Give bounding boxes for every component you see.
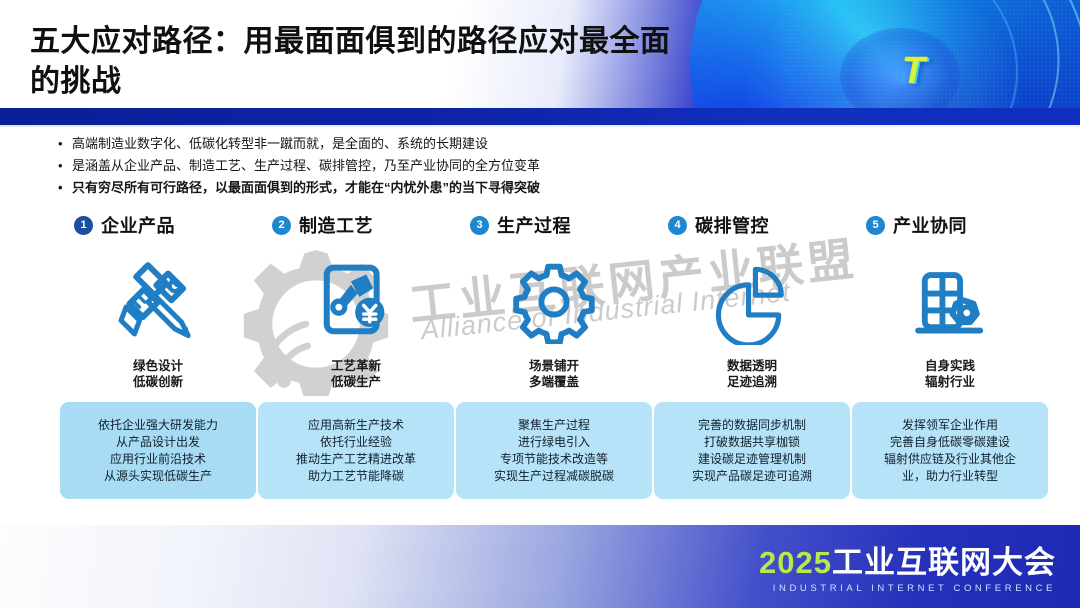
conference-year: 2025 [759, 545, 832, 580]
number-badge: 3 [470, 216, 489, 235]
detail-card[interactable]: 应用高新生产技术 依托行业经验 推动生产工艺精进改革 助力工艺节能降碳 [258, 402, 454, 499]
paths-row: 1 企业产品 绿色设计 [0, 210, 1080, 520]
path-column-4[interactable]: 4 碳排管控 数据透明 足迹追溯 完善的数据同步机制 打破数据共享枷锁 建设碳足… [654, 210, 850, 499]
slide-header: T 五大应对路径：用最面面俱到的路径应对最全面的挑战 [0, 0, 1080, 118]
conference-logo: 2025工业互联网大会 INDUSTRIAL INTERNET CONFEREN… [759, 547, 1056, 594]
sublabel-line-1: 工艺革新 [258, 358, 454, 374]
card-line: 实现生产过程减碳脱碳 [494, 468, 614, 485]
column-title: 企业产品 [101, 212, 175, 238]
column-header: 2 制造工艺 [258, 210, 454, 240]
column-title: 生产过程 [497, 212, 571, 238]
bullet-marker: • [58, 134, 72, 154]
column-title: 制造工艺 [299, 212, 373, 238]
sublabel-line-1: 数据透明 [654, 358, 850, 374]
column-header: 4 碳排管控 [654, 210, 850, 240]
sublabel-line-2: 足迹追溯 [654, 374, 850, 390]
sublabel-line-2: 低碳创新 [60, 374, 256, 390]
card-line: 应用高新生产技术 [296, 417, 416, 434]
path-column-1[interactable]: 1 企业产品 绿色设计 [60, 210, 256, 499]
column-sublabel: 自身实践 辐射行业 [852, 358, 1048, 394]
slide-footer: 2025工业互联网大会 INDUSTRIAL INTERNET CONFEREN… [0, 525, 1080, 608]
column-header: 5 产业协同 [852, 210, 1048, 240]
conference-name-chinese: 工业互联网大会 [832, 545, 1056, 580]
card-line: 建设碳足迹管理机制 [692, 451, 812, 468]
card-line: 实现产品碳足迹可追溯 [692, 468, 812, 485]
card-line: 从产品设计出发 [98, 434, 218, 451]
conference-name-english: INDUSTRIAL INTERNET CONFERENCE [759, 584, 1056, 594]
bullet-text: 是涵盖从企业产品、制造工艺、生产过程、碳排管控，乃至产业协同的全方位变革 [72, 156, 540, 176]
column-header: 3 生产过程 [456, 210, 652, 240]
card-line: 助力工艺节能降碳 [296, 468, 416, 485]
gear-outline-icon [456, 248, 652, 356]
tech-dot-pattern [780, 0, 1080, 118]
bullet-marker: • [58, 156, 72, 176]
column-sublabel: 绿色设计 低碳创新 [60, 358, 256, 394]
column-header: 1 企业产品 [60, 210, 256, 240]
card-text: 完善的数据同步机制 打破数据共享枷锁 建设碳足迹管理机制 实现产品碳足迹可追溯 [692, 417, 812, 485]
card-line: 依托企业强大研发能力 [98, 417, 218, 434]
card-line: 从源头实现低碳生产 [98, 468, 218, 485]
bullet-item: • 是涵盖从企业产品、制造工艺、生产过程、碳排管控，乃至产业协同的全方位变革 [58, 156, 758, 176]
card-line: 进行绿电引入 [494, 434, 614, 451]
number-badge: 4 [668, 216, 687, 235]
number-badge: 5 [866, 216, 885, 235]
number-badge: 1 [74, 216, 93, 235]
sublabel-line-2: 低碳生产 [258, 374, 454, 390]
card-line: 业，助力行业转型 [884, 468, 1016, 485]
column-sublabel: 数据透明 足迹追溯 [654, 358, 850, 394]
bullet-text: 只有穷尽所有可行路径，以最面面俱到的形式，才能在“内忧外患”的当下寻得突破 [72, 178, 540, 198]
card-line: 专项节能技术改造等 [494, 451, 614, 468]
sublabel-line-1: 绿色设计 [60, 358, 256, 374]
card-line: 应用行业前沿技术 [98, 451, 218, 468]
path-column-2[interactable]: 2 制造工艺 工艺革新 低碳生产 应用高新生产技术 [258, 210, 454, 499]
detail-card[interactable]: 依托企业强大研发能力 从产品设计出发 应用行业前沿技术 从源头实现低碳生产 [60, 402, 256, 499]
page-title: 五大应对路径：用最面面俱到的路径应对最全面的挑战 [30, 22, 690, 101]
card-line: 依托行业经验 [296, 434, 416, 451]
tablet-tool-yen-icon [258, 248, 454, 356]
bullet-list: • 高端制造业数字化、低碳化转型非一蹴而就，是全面的、系统的长期建设 • 是涵盖… [58, 134, 758, 200]
bullet-marker: • [58, 178, 72, 198]
pie-chart-icon [654, 248, 850, 356]
bullet-item: • 高端制造业数字化、低碳化转型非一蹴而就，是全面的、系统的长期建设 [58, 134, 758, 154]
bullet-item: • 只有穷尽所有可行路径，以最面面俱到的形式，才能在“内忧外患”的当下寻得突破 [58, 178, 758, 198]
detail-card[interactable]: 完善的数据同步机制 打破数据共享枷锁 建设碳足迹管理机制 实现产品碳足迹可追溯 [654, 402, 850, 499]
path-column-5[interactable]: 5 产业协同 自身实践 辐射行业 发挥领军企业作用 [852, 210, 1048, 499]
column-title: 碳排管控 [695, 212, 769, 238]
sublabel-line-2: 多端覆盖 [456, 374, 652, 390]
detail-card[interactable]: 聚焦生产过程 进行绿电引入 专项节能技术改造等 实现生产过程减碳脱碳 [456, 402, 652, 499]
card-line: 辐射供应链及行业其他企 [884, 451, 1016, 468]
card-line: 完善自身低碳零碳建设 [884, 434, 1016, 451]
building-gear-icon [852, 248, 1048, 356]
header-band-hairline [0, 125, 1080, 127]
sublabel-line-2: 辐射行业 [852, 374, 1048, 390]
card-line: 聚焦生产过程 [494, 417, 614, 434]
column-sublabel: 工艺革新 低碳生产 [258, 358, 454, 394]
header-blue-band [0, 108, 1080, 125]
sublabel-line-1: 场景铺开 [456, 358, 652, 374]
path-column-3[interactable]: 3 生产过程 场景铺开 多端覆盖 聚焦生产过程 进行绿电引入 专项节能技术改造等… [456, 210, 652, 499]
column-title: 产业协同 [893, 212, 967, 238]
conference-logo-main: 2025工业互联网大会 [759, 547, 1056, 578]
bullet-text: 高端制造业数字化、低碳化转型非一蹴而就，是全面的、系统的长期建设 [72, 134, 488, 154]
card-line: 打破数据共享枷锁 [692, 434, 812, 451]
ruler-pencil-icon [60, 248, 256, 356]
card-text: 应用高新生产技术 依托行业经验 推动生产工艺精进改革 助力工艺节能降碳 [296, 417, 416, 485]
detail-card[interactable]: 发挥领军企业作用 完善自身低碳零碳建设 辐射供应链及行业其他企 业，助力行业转型 [852, 402, 1048, 499]
card-line: 发挥领军企业作用 [884, 417, 1016, 434]
column-sublabel: 场景铺开 多端覆盖 [456, 358, 652, 394]
card-text: 聚焦生产过程 进行绿电引入 专项节能技术改造等 实现生产过程减碳脱碳 [494, 417, 614, 485]
t-logo-icon: T [902, 52, 922, 90]
sublabel-line-1: 自身实践 [852, 358, 1048, 374]
card-line: 推动生产工艺精进改革 [296, 451, 416, 468]
card-text: 依托企业强大研发能力 从产品设计出发 应用行业前沿技术 从源头实现低碳生产 [98, 417, 218, 485]
card-line: 完善的数据同步机制 [692, 417, 812, 434]
card-text: 发挥领军企业作用 完善自身低碳零碳建设 辐射供应链及行业其他企 业，助力行业转型 [884, 417, 1016, 485]
number-badge: 2 [272, 216, 291, 235]
